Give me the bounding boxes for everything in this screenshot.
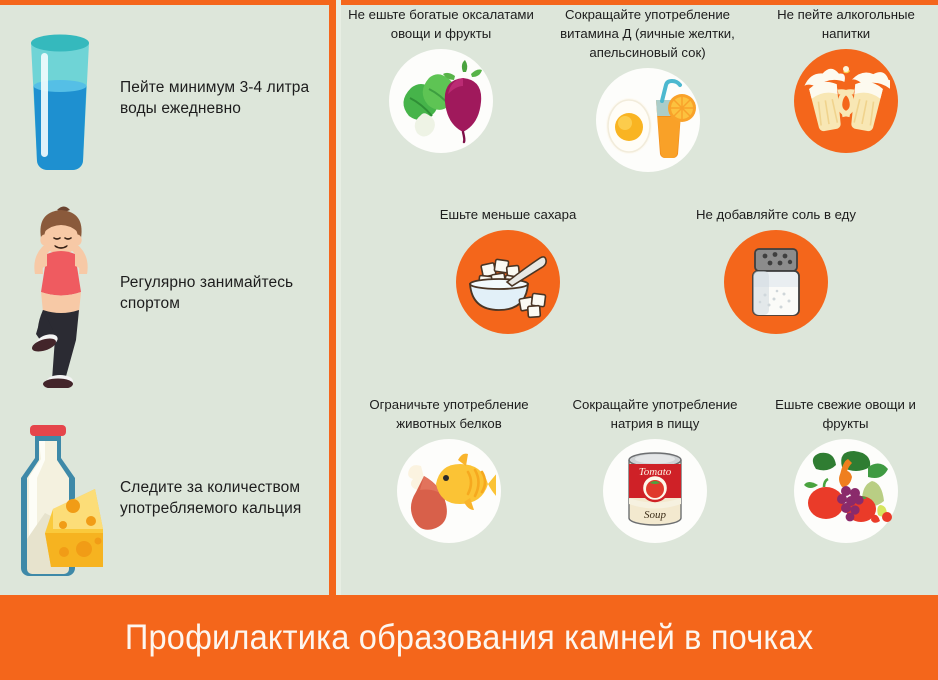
left-column: Пейте минимум 3-4 литра воды ежедневно (0, 5, 329, 595)
can-brand-text: Tomato (639, 466, 672, 478)
spinach-beet-icon (389, 49, 493, 153)
infographic-page: Пейте минимум 3-4 литра воды ежедневно (0, 0, 938, 680)
left-item-label: Пейте минимум 3-4 литра воды ежедневно (120, 77, 329, 119)
left-item-exercise: Регулярно занимайтесь спортом (0, 185, 329, 400)
left-item-label: Регулярно занимайтесь спортом (120, 272, 329, 314)
tip-less-sugar: Ешьте меньше сахара (377, 205, 639, 334)
beer-mugs-icon (794, 49, 898, 153)
tip-label: Ограничьте употребление животных белков (341, 395, 557, 433)
tip-label: Не добавляйте соль в еду (641, 205, 911, 224)
can-product-text: Soup (644, 509, 667, 521)
tomato-soup-can-icon: Tomato Soup (603, 439, 707, 543)
left-item-label: Следите за количеством употребляемого ка… (120, 477, 329, 519)
tip-fresh-produce: Ешьте свежие овощи и фрукты (753, 395, 938, 543)
tip-label: Ешьте свежие овощи и фрукты (753, 395, 938, 433)
yoga-woman-icon (0, 198, 120, 388)
fresh-vegetables-fruits-icon (794, 439, 898, 543)
tip-label: Ешьте меньше сахара (377, 205, 639, 224)
milk-bottle-cheese-icon (0, 413, 120, 583)
bottom-banner: Профилактика образования камней в почках (0, 595, 938, 680)
vertical-divider (329, 0, 336, 595)
right-row-3: Ограничьте употребление животных белков (341, 395, 938, 595)
sugar-bowl-icon (456, 230, 560, 334)
chicken-fish-icon (397, 439, 501, 543)
tip-label: Не пейте алкогольные напитки (754, 5, 938, 43)
right-row-2: Ешьте меньше сахара (341, 205, 938, 395)
tip-reduce-sodium: Сокращайте употребление натрия в пищу To… (557, 395, 753, 543)
salt-shaker-icon (724, 230, 828, 334)
tip-no-salt: Не добавляйте соль в еду (641, 205, 911, 334)
right-row-1: Не ешьте богатые оксалатами овощи и фрук… (341, 5, 938, 205)
banner-title: Профилактика образования камней в почках (125, 618, 813, 658)
right-column: Не ешьте богатые оксалатами овощи и фрук… (341, 5, 938, 595)
tip-label: Не ешьте богатые оксалатами овощи и фрук… (341, 5, 541, 43)
left-item-calcium: Следите за количеством употребляемого ка… (0, 400, 329, 595)
tip-no-alcohol: Не пейте алкогольные напитки (754, 5, 938, 153)
tip-oxalate-vegetables: Не ешьте богатые оксалатами овощи и фрук… (341, 5, 541, 153)
tip-label: Сокращайте употребление витамина Д (яичн… (541, 5, 754, 62)
egg-orange-juice-icon (596, 68, 700, 172)
tip-label: Сокращайте употребление натрия в пищу (557, 395, 753, 433)
tip-limit-animal-protein: Ограничьте употребление животных белков (341, 395, 557, 543)
left-item-water: Пейте минимум 3-4 литра воды ежедневно (0, 10, 329, 185)
water-glass-icon (0, 23, 120, 173)
tip-vitamin-d: Сокращайте употребление витамина Д (яичн… (541, 5, 754, 172)
